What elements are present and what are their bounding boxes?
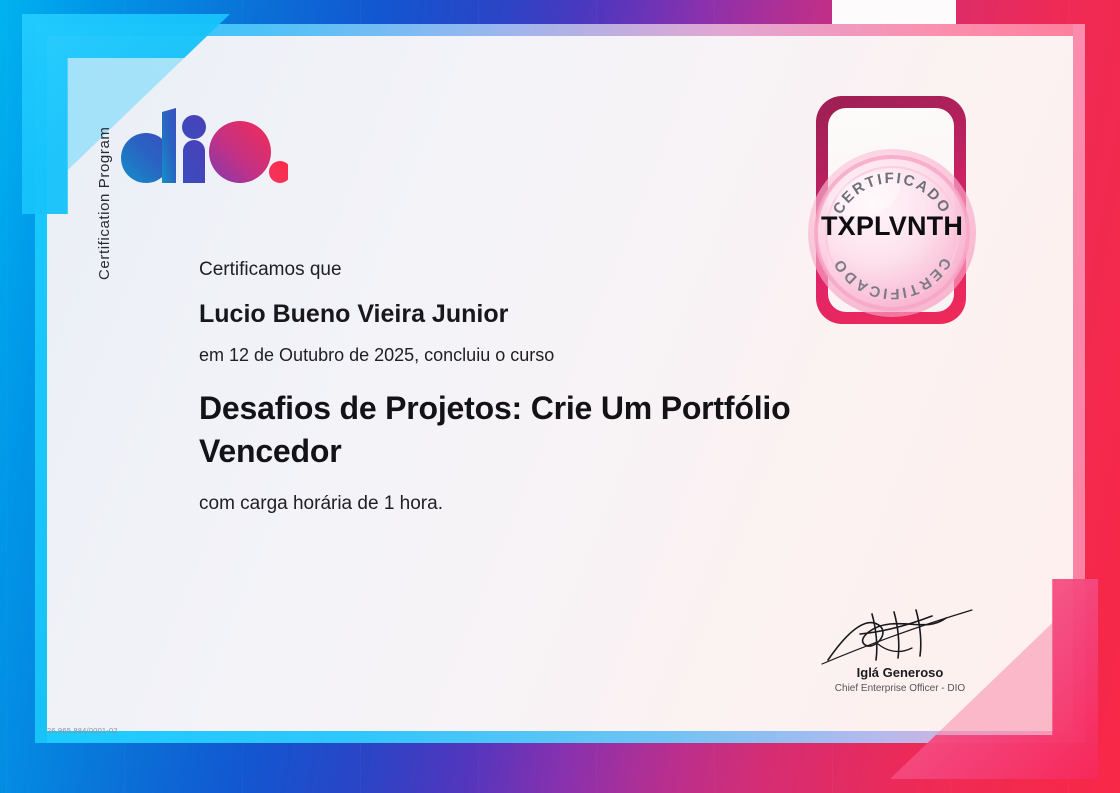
cnpj-number: 26.965.884/0001-02 <box>47 726 118 735</box>
signatory-role: Chief Enterprise Officer - DIO <box>790 683 1010 694</box>
recipient-name: Lucio Bueno Vieira Junior <box>199 299 819 330</box>
card-border-bottom <box>35 731 1085 743</box>
dio-logo-icon <box>118 106 288 184</box>
certificate-stage: Certification Program Certificamos que L… <box>0 0 1120 793</box>
signatory-name: Iglá Generoso <box>790 665 1010 680</box>
course-title: Desafios de Projetos: Crie Um Portfólio … <box>199 387 819 471</box>
certification-program-label: Certification Program <box>96 90 113 280</box>
completion-date-text: em 12 de Outubro de 2025, concluiu o cur… <box>199 344 819 367</box>
intro-text: Certificamos que <box>199 258 819 283</box>
signature-mark-icon <box>820 608 980 668</box>
certificate-code: TXPLVNTH <box>806 211 978 242</box>
workload-text: com carga horária de 1 hora. <box>199 492 819 517</box>
certificate-body: Certificamos que Lucio Bueno Vieira Juni… <box>199 258 819 516</box>
